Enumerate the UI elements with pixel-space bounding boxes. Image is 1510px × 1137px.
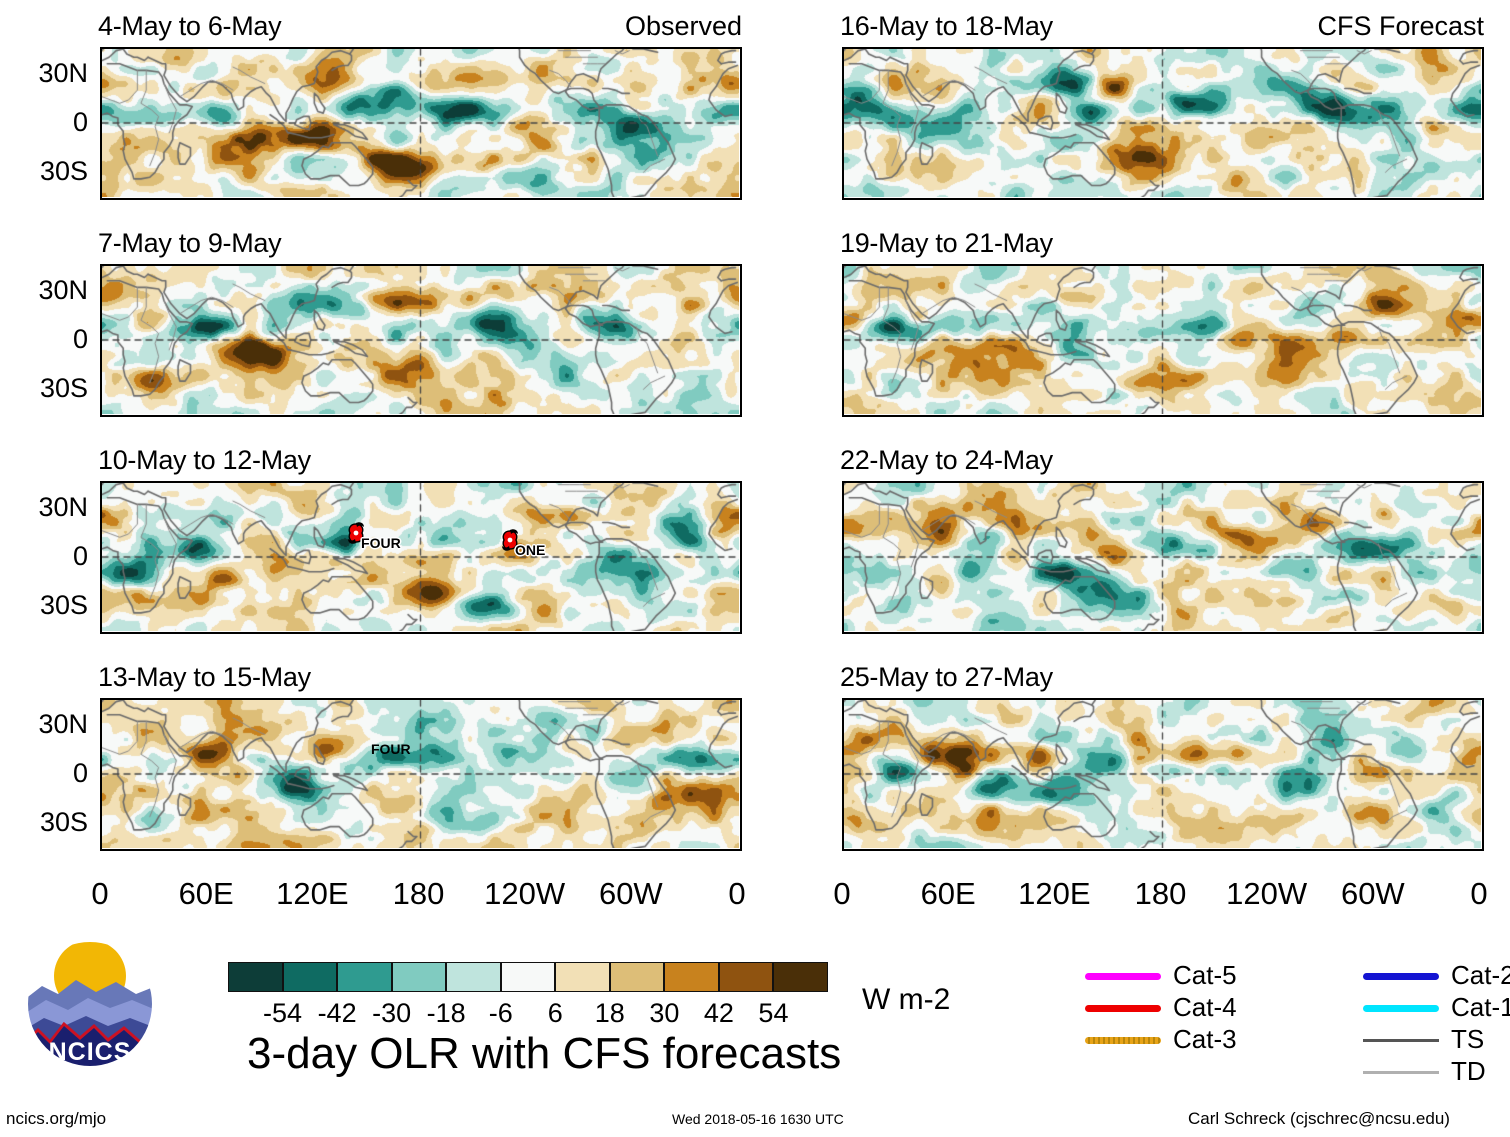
legend-row-cat-4: Cat-4: [1085, 998, 1275, 1020]
footer-timestamp: Wed 2018-05-16 1630 UTC: [672, 1112, 844, 1126]
olr-anomaly-field: [102, 49, 739, 197]
olr-anomaly-field: [102, 266, 739, 414]
legend-swatch-cat-5: [1085, 973, 1161, 980]
x-tick-60e: 60E: [888, 878, 1008, 909]
olr-anomaly-field: [844, 266, 1481, 414]
page-title: 3-day OLR with CFS forecasts: [247, 1032, 841, 1076]
x-tick-60w: 60W: [1313, 878, 1433, 909]
logo-badge-icon: NCICS: [24, 938, 156, 1070]
colorbar-swatch-10: [773, 962, 828, 992]
legend-row-td: TD: [1363, 1062, 1510, 1084]
storm-label-four: FOUR: [371, 742, 411, 756]
panel-title-6: 19-May to 21-May: [840, 230, 1053, 257]
olr-anomaly-field: [844, 483, 1481, 631]
olr-map-7: [842, 481, 1484, 634]
legend-swatch-cat-1: [1363, 1005, 1439, 1012]
y-tick-30s: 30S: [0, 592, 88, 619]
legend-label-td: TD: [1451, 1058, 1486, 1084]
x-tick-180: 180: [1101, 878, 1221, 909]
x-tick-60e: 60E: [146, 878, 266, 909]
footer-author: Carl Schreck (cjschrec@ncsu.edu): [1188, 1110, 1450, 1127]
colorbar-units: W m-2: [862, 985, 950, 1015]
y-tick-30s: 30S: [0, 158, 88, 185]
colorbar-swatch-9: [719, 962, 774, 992]
panel-title-2: 7-May to 9-May: [98, 230, 281, 257]
y-tick-30n: 30N: [0, 494, 88, 521]
legend-label-cat-2: Cat-2: [1451, 962, 1510, 988]
legend-swatch-ts: [1363, 1039, 1439, 1042]
colorbar-swatch-3: [392, 962, 447, 992]
colorbar-tick-9: 54: [733, 1000, 813, 1027]
x-tick-0: 0: [40, 878, 160, 909]
ncics-logo: NCICS: [24, 938, 156, 1070]
footer-site-link[interactable]: ncics.org/mjo: [6, 1110, 106, 1127]
legend-swatch-cat-4: [1085, 1005, 1161, 1012]
legend-row-cat-2: Cat-2: [1363, 966, 1510, 988]
y-tick-30n: 30N: [0, 711, 88, 738]
legend-label-cat-4: Cat-4: [1173, 994, 1237, 1020]
y-tick-0: 0: [0, 760, 88, 787]
y-tick-0: 0: [0, 109, 88, 136]
olr-map-1: [100, 47, 742, 200]
x-tick-120w: 120W: [1207, 878, 1327, 909]
legend-row-cat-5: Cat-5: [1085, 966, 1275, 988]
legend-row-ts: TS: [1363, 1030, 1510, 1052]
colorbar-swatch-0: [228, 962, 283, 992]
legend-swatch-td: [1363, 1071, 1439, 1074]
legend-label-cat-3: Cat-3: [1173, 1026, 1237, 1052]
olr-map-3: FOURONE: [100, 481, 742, 634]
x-tick-0: 0: [782, 878, 902, 909]
panel-title-7: 22-May to 24-May: [840, 447, 1053, 474]
legend-label-ts: TS: [1451, 1026, 1484, 1052]
legend-swatch-cat-3: [1085, 1037, 1161, 1044]
svg-text:NCICS: NCICS: [49, 1038, 132, 1066]
x-tick-120e: 120E: [994, 878, 1114, 909]
storm-label-one: ONE: [515, 543, 545, 557]
x-tick-120w: 120W: [465, 878, 585, 909]
olr-map-5: [842, 47, 1484, 200]
x-tick-60w: 60W: [571, 878, 691, 909]
y-tick-0: 0: [0, 326, 88, 353]
legend-row-cat-1: Cat-1: [1363, 998, 1510, 1020]
y-tick-30n: 30N: [0, 277, 88, 304]
olr-map-4: FOUR: [100, 698, 742, 851]
x-tick-0: 0: [1419, 878, 1510, 909]
storm-label-four: FOUR: [361, 536, 401, 550]
colorbar-swatch-2: [337, 962, 392, 992]
y-tick-30s: 30S: [0, 809, 88, 836]
olr-map-8: [842, 698, 1484, 851]
olr-anomaly-field: [844, 49, 1481, 197]
olr-map-6: [842, 264, 1484, 417]
colorbar-swatch-5: [501, 962, 556, 992]
x-tick-120e: 120E: [252, 878, 372, 909]
colorbar-swatch-1: [283, 962, 338, 992]
colorbar-swatch-8: [664, 962, 719, 992]
colorbar-swatch-7: [610, 962, 665, 992]
olr-anomaly-field: [102, 700, 739, 848]
legend-swatch-cat-2: [1363, 973, 1439, 980]
panel-title-4: 13-May to 15-May: [98, 664, 311, 691]
olr-anomaly-field: [102, 483, 739, 631]
legend-row-cat-3: Cat-3: [1085, 1030, 1275, 1052]
olr-map-2: [100, 264, 742, 417]
panel-title-3: 10-May to 12-May: [98, 447, 311, 474]
y-tick-30n: 30N: [0, 60, 88, 87]
x-tick-180: 180: [359, 878, 479, 909]
colorbar-swatch-6: [555, 962, 610, 992]
y-tick-30s: 30S: [0, 375, 88, 402]
panel-title-8: 25-May to 27-May: [840, 664, 1053, 691]
colorbar-swatch-4: [446, 962, 501, 992]
column-header-right: CFS Forecast: [0, 13, 1484, 40]
legend-label-cat-1: Cat-1: [1451, 994, 1510, 1020]
olr-anomaly-field: [844, 700, 1481, 848]
y-tick-0: 0: [0, 543, 88, 570]
legend-label-cat-5: Cat-5: [1173, 962, 1237, 988]
x-tick-0: 0: [677, 878, 797, 909]
